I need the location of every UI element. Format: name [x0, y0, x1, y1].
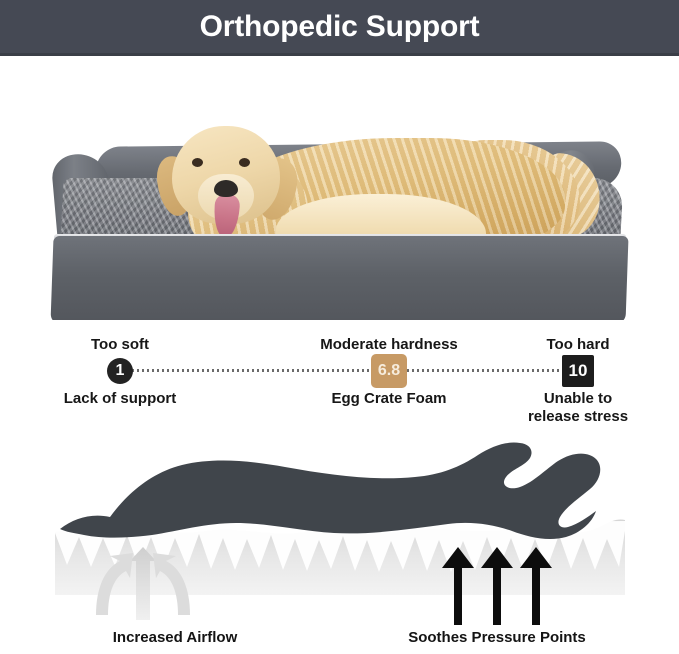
- scale-label-too-hard: Too hard: [546, 336, 609, 353]
- scale-marker-6-8: 6.8: [371, 354, 407, 388]
- product-photo: [0, 58, 679, 320]
- dog-nose: [214, 180, 238, 197]
- scale-caption-unable-to-release-stress: Unable to release stress: [528, 390, 628, 426]
- scale-caption-line-1: Unable to: [544, 390, 612, 407]
- scale-caption-line-2: release stress: [528, 408, 628, 425]
- bed-base-slab: [50, 236, 628, 320]
- diagram-svg: [0, 425, 679, 654]
- scale-dotted-line: [132, 369, 564, 372]
- dog-silhouette: [60, 443, 600, 539]
- header-divider: [0, 53, 679, 56]
- scale-caption-egg-crate-foam: Egg Crate Foam: [331, 390, 446, 408]
- pressure-point-arrows: [442, 547, 552, 625]
- scale-marker-1: 1: [107, 358, 133, 384]
- page-title: Orthopedic Support: [200, 10, 480, 44]
- dog-eye-right: [239, 158, 250, 167]
- scale-caption-lack-of-support: Lack of support: [64, 390, 177, 408]
- foam-cross-section-diagram: [0, 425, 679, 654]
- infographic-page: Orthopedic Support: [0, 0, 679, 654]
- header-bar: Orthopedic Support: [0, 0, 679, 53]
- scale-label-too-soft: Too soft: [91, 336, 149, 353]
- label-increased-airflow: Increased Airflow: [113, 629, 237, 646]
- scale-marker-10: 10: [562, 355, 594, 387]
- scale-label-moderate-hardness: Moderate hardness: [320, 336, 458, 353]
- label-soothes-pressure-points: Soothes Pressure Points: [408, 629, 586, 646]
- dog-eye-left: [192, 158, 203, 167]
